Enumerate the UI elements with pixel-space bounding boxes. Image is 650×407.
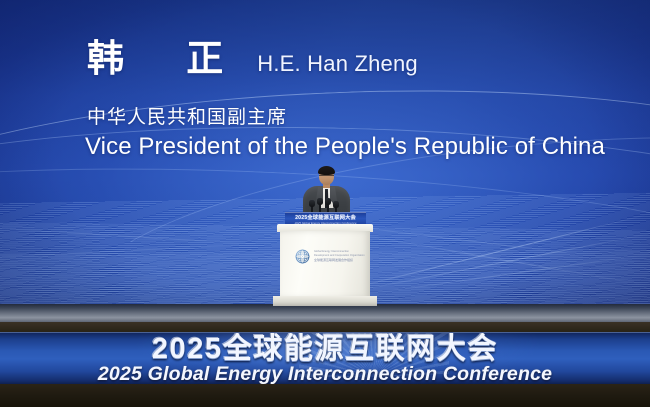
conference-stage-photo: 2025全球能源互联网大会 2025 Global Energy Interco… — [0, 0, 650, 407]
speaker-name-en: H.E. Han Zheng — [257, 51, 418, 77]
podium-logo-line-cn: 全球能源互联网发展合作组织 — [314, 259, 365, 263]
speaker-name-cn: 韩 正 — [87, 39, 249, 79]
podium-base — [273, 296, 377, 306]
globe-grid-icon — [294, 248, 311, 265]
conference-banner-title-en: 2025 Global Energy Interconnection Confe… — [0, 363, 650, 386]
podium-logo-text-block: Global Energy Interconnection Developmen… — [314, 250, 365, 263]
conference-banner: 2025全球能源互联网大会 2025 Global Energy Interco… — [0, 332, 650, 386]
speaker-title-cn: 中华人民共和国副主席 — [87, 102, 287, 129]
podium-logo-line-en2: Development and Cooperation Organization — [314, 254, 365, 257]
podium-organization-logo: Global Energy Interconnection Developmen… — [294, 246, 362, 266]
stage-apron — [0, 384, 650, 407]
podium-logo-line-en1: Global Energy Interconnection — [314, 250, 365, 253]
conference-banner-title-cn: 2025全球能源互联网大会 — [0, 333, 650, 364]
speaker-title-en: Vice President of the People's Republic … — [85, 133, 605, 161]
speaker-identification-overlay: 韩 正 H.E. Han Zheng 中华人民共和国副主席 Vice Presi… — [0, 0, 650, 180]
speaker-name-row: 韩 正 H.E. Han Zheng — [87, 39, 418, 79]
